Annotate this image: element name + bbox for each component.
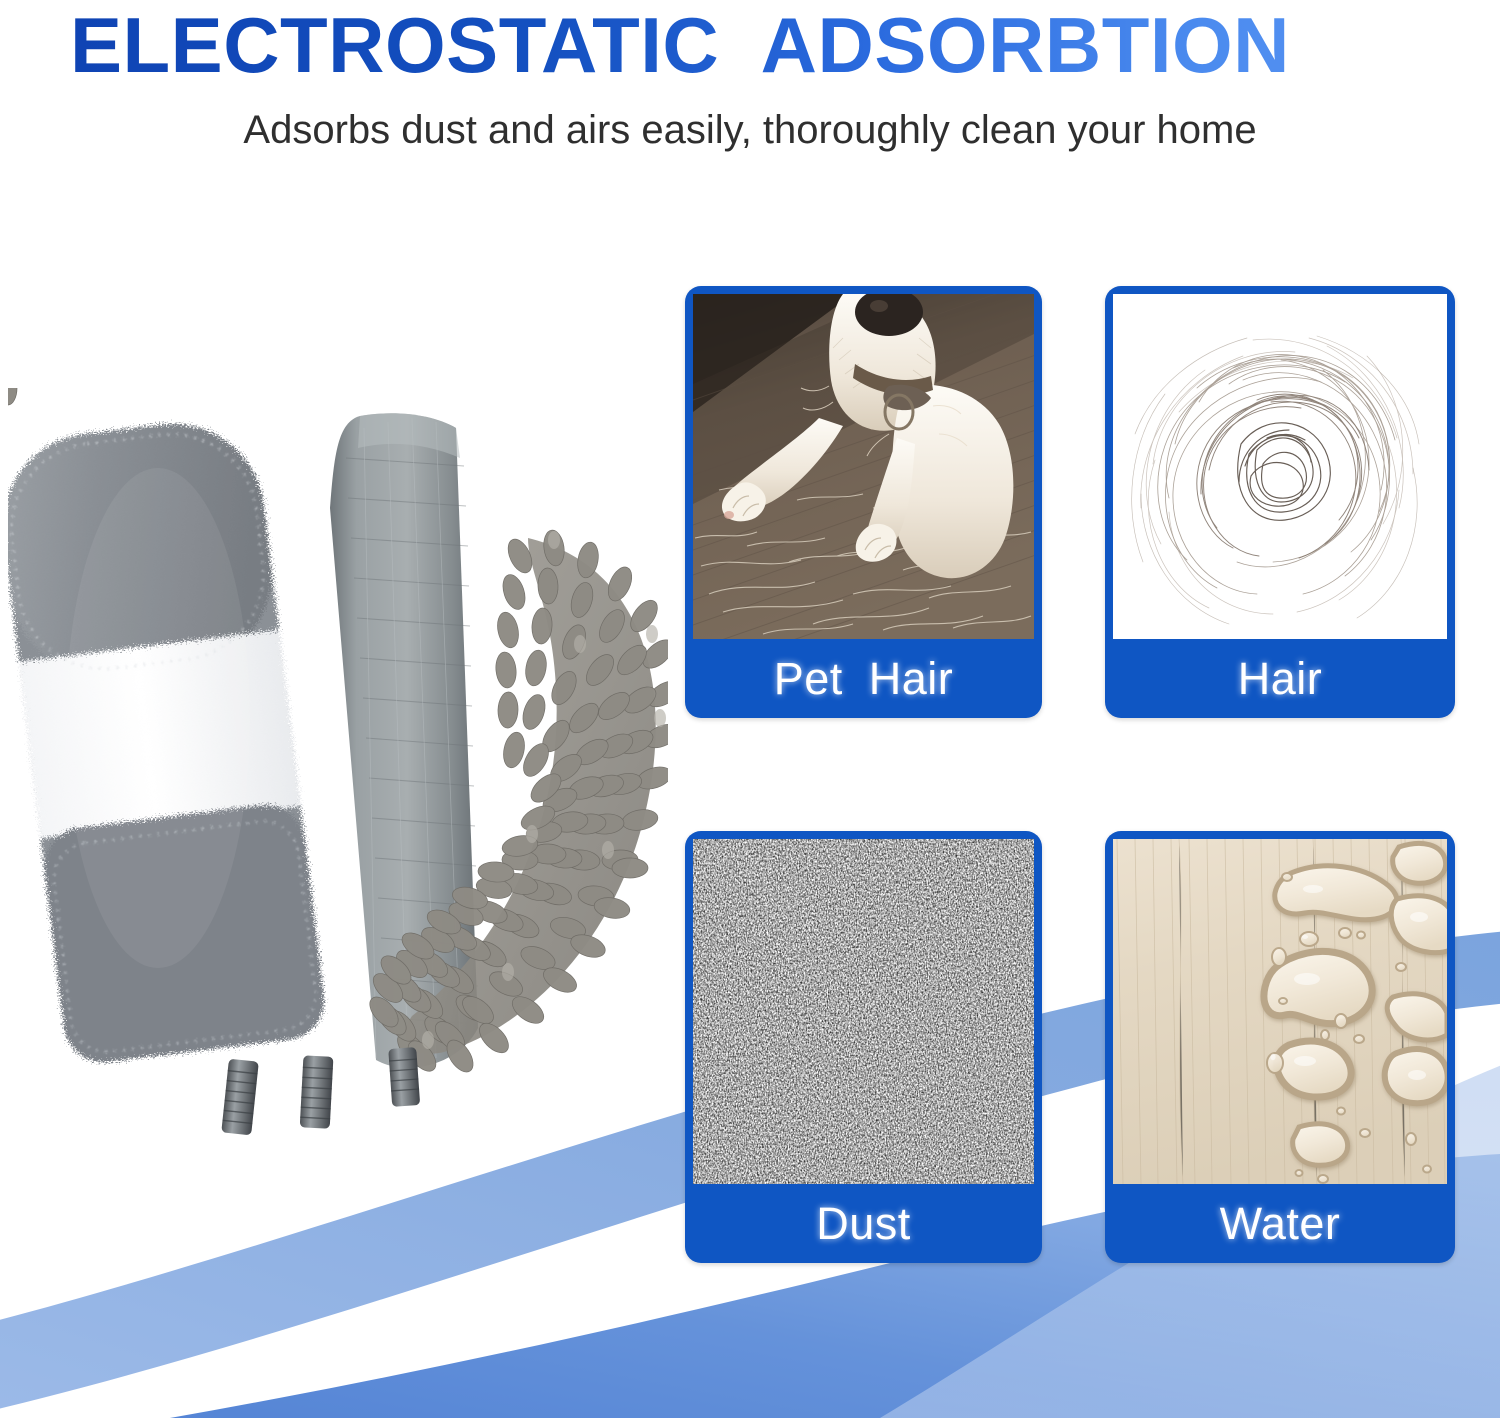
fluffy-duster-head	[8, 413, 329, 1066]
product-image	[8, 388, 668, 1178]
infographic-canvas: ELECTROSTATIC ADSORBTION Adsorbs dust an…	[0, 0, 1500, 1418]
feature-card-water[interactable]: Water	[1105, 831, 1455, 1263]
card-label-hair: Hair	[1105, 639, 1455, 718]
duster-connectors	[221, 1047, 420, 1135]
dust-image	[693, 839, 1034, 1184]
page-subtitle: Adsorbs dust and airs easily, thoroughly…	[0, 103, 1500, 157]
feature-card-pet-hair[interactable]: Pet Hair	[685, 286, 1042, 718]
page-title: ELECTROSTATIC ADSORBTION	[70, 2, 1450, 88]
hair-image	[1113, 294, 1447, 639]
card-label-dust: Dust	[685, 1184, 1042, 1263]
feature-card-dust[interactable]: Dust	[685, 831, 1042, 1263]
card-label-water: Water	[1105, 1184, 1455, 1263]
feature-card-hair[interactable]: Hair	[1105, 286, 1455, 718]
card-label-pet-hair: Pet Hair	[685, 639, 1042, 718]
water-image	[1113, 839, 1447, 1184]
pet-hair-image	[693, 294, 1034, 639]
